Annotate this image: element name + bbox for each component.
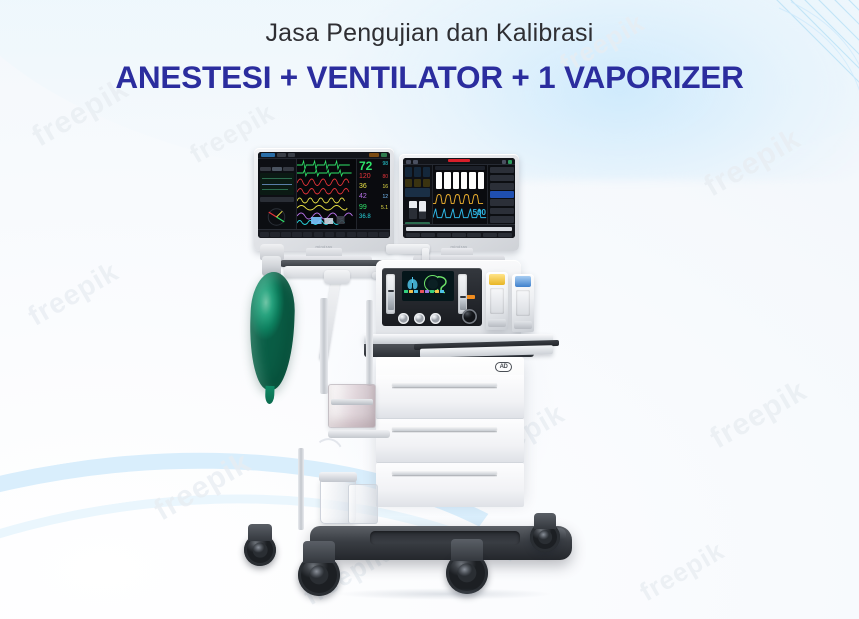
monitor-right-content: 500 bbox=[403, 158, 515, 238]
drawer-handle-1[interactable] bbox=[392, 382, 497, 387]
patient-monitor-left[interactable]: 72 98 120 80 36 16 42 12 99 5.1 36.8 bbox=[254, 148, 394, 251]
status-led bbox=[404, 290, 408, 293]
poster-canvas: freepikfreepikfreepikfreepikfreepikfreep… bbox=[0, 0, 859, 619]
drawer-handle-2[interactable] bbox=[392, 426, 497, 431]
monitor-right-sidekeys[interactable] bbox=[487, 165, 515, 224]
monitor-left-waveform-area bbox=[297, 159, 356, 229]
vaporizer-cap-yellow bbox=[489, 274, 505, 285]
monitor-bezel-right: 500 bbox=[399, 154, 519, 251]
status-led bbox=[425, 290, 429, 293]
flowmeter-oxygen bbox=[386, 274, 395, 314]
control-knob-3[interactable] bbox=[430, 313, 441, 324]
control-knob-1[interactable] bbox=[398, 313, 409, 324]
vaporizer-desflurane[interactable] bbox=[512, 274, 534, 332]
poster-headline: ANESTESI + VENTILATOR + 1 VAPORIZER bbox=[0, 61, 859, 94]
poster-subtitle: Jasa Pengujian dan Kalibrasi bbox=[0, 20, 859, 48]
anesthesia-machine: 72 98 120 80 36 16 42 12 99 5.1 36.8 bbox=[236, 148, 636, 613]
watermark-tile: freepik bbox=[634, 535, 729, 608]
drawer-1[interactable] bbox=[376, 375, 524, 419]
vaporizer-cap-blue bbox=[515, 276, 531, 287]
control-knob-2[interactable] bbox=[414, 313, 425, 324]
monitor-bezel-left: 72 98 120 80 36 16 42 12 99 5.1 36.8 bbox=[254, 148, 394, 251]
monitor-left-content: 72 98 120 80 36 16 42 12 99 5.1 36.8 bbox=[258, 152, 390, 238]
status-led bbox=[409, 290, 413, 293]
alarm-bar bbox=[448, 159, 470, 162]
monitor-right-statusbar bbox=[403, 158, 515, 165]
machine-top-housing bbox=[376, 260, 521, 338]
monitor-right-toolbar[interactable] bbox=[403, 224, 515, 238]
ventilator-led-row bbox=[404, 290, 452, 299]
gas-column-right bbox=[366, 300, 373, 386]
cabinet-logo: AD bbox=[495, 362, 512, 372]
water-trap-cap bbox=[319, 472, 357, 482]
ventilator-knob-row[interactable] bbox=[398, 313, 441, 324]
status-led bbox=[435, 290, 439, 293]
vaporizer-sevoflurane[interactable] bbox=[486, 272, 508, 330]
flowmeter-air bbox=[458, 274, 467, 314]
base-inset-panel bbox=[370, 531, 520, 545]
absorber-support-arm bbox=[328, 430, 390, 438]
status-led bbox=[414, 290, 418, 293]
support-post bbox=[298, 448, 304, 530]
ventilator-mini-screen[interactable] bbox=[402, 271, 454, 301]
monitor-left-statusbar bbox=[258, 152, 390, 159]
monitor-left-softkeys[interactable] bbox=[258, 229, 390, 238]
drawer-handle-3[interactable] bbox=[392, 470, 497, 475]
ventilator-control-panel[interactable] bbox=[382, 268, 482, 326]
watermark-tile: freepik bbox=[705, 374, 813, 456]
tidal-volume-value: 500 bbox=[473, 209, 486, 217]
vaporizer-foot-2 bbox=[514, 321, 532, 329]
ventilator-monitor-right[interactable]: 500 bbox=[399, 154, 519, 251]
monitor-right-param-column bbox=[403, 165, 433, 224]
co2-absorber-canister bbox=[328, 384, 376, 428]
status-led bbox=[440, 290, 444, 293]
drawer-3[interactable] bbox=[376, 463, 524, 507]
vaporizer-dial-2[interactable] bbox=[516, 290, 530, 316]
suction-canister bbox=[348, 484, 378, 524]
status-led bbox=[420, 290, 424, 293]
monitor-screen-left[interactable]: 72 98 120 80 36 16 42 12 99 5.1 36.8 bbox=[258, 152, 390, 238]
drawer-stack: AD bbox=[376, 357, 524, 497]
lung-icon bbox=[406, 276, 419, 291]
monitor-arm-joint bbox=[324, 270, 350, 284]
drawer-2[interactable] bbox=[376, 419, 524, 463]
main-rotary-knob[interactable] bbox=[462, 309, 477, 324]
monitor-right-waveform-area: 500 bbox=[433, 165, 487, 224]
status-led bbox=[430, 290, 434, 293]
gas-column-left bbox=[320, 298, 328, 394]
heart-rate-value: 72 bbox=[359, 160, 372, 172]
monitor-left-trend-panel[interactable] bbox=[258, 159, 297, 229]
poster-header: Jasa Pengujian dan Kalibrasi ANESTESI + … bbox=[0, 0, 859, 94]
vaporizer-dial-1[interactable] bbox=[490, 288, 504, 314]
volume-block-row bbox=[436, 172, 484, 189]
caster-rear-left bbox=[244, 534, 276, 566]
monitor-screen-right[interactable]: 500 bbox=[403, 158, 515, 238]
monitor-left-numerics: 72 98 120 80 36 16 42 12 99 5.1 36.8 bbox=[356, 159, 390, 229]
absorber-lid bbox=[331, 399, 373, 405]
watermark-tile: freepik bbox=[23, 255, 125, 332]
floor-shadow bbox=[294, 586, 594, 602]
caster-rear-right bbox=[530, 522, 560, 552]
vaporizer-foot-1 bbox=[488, 319, 506, 327]
